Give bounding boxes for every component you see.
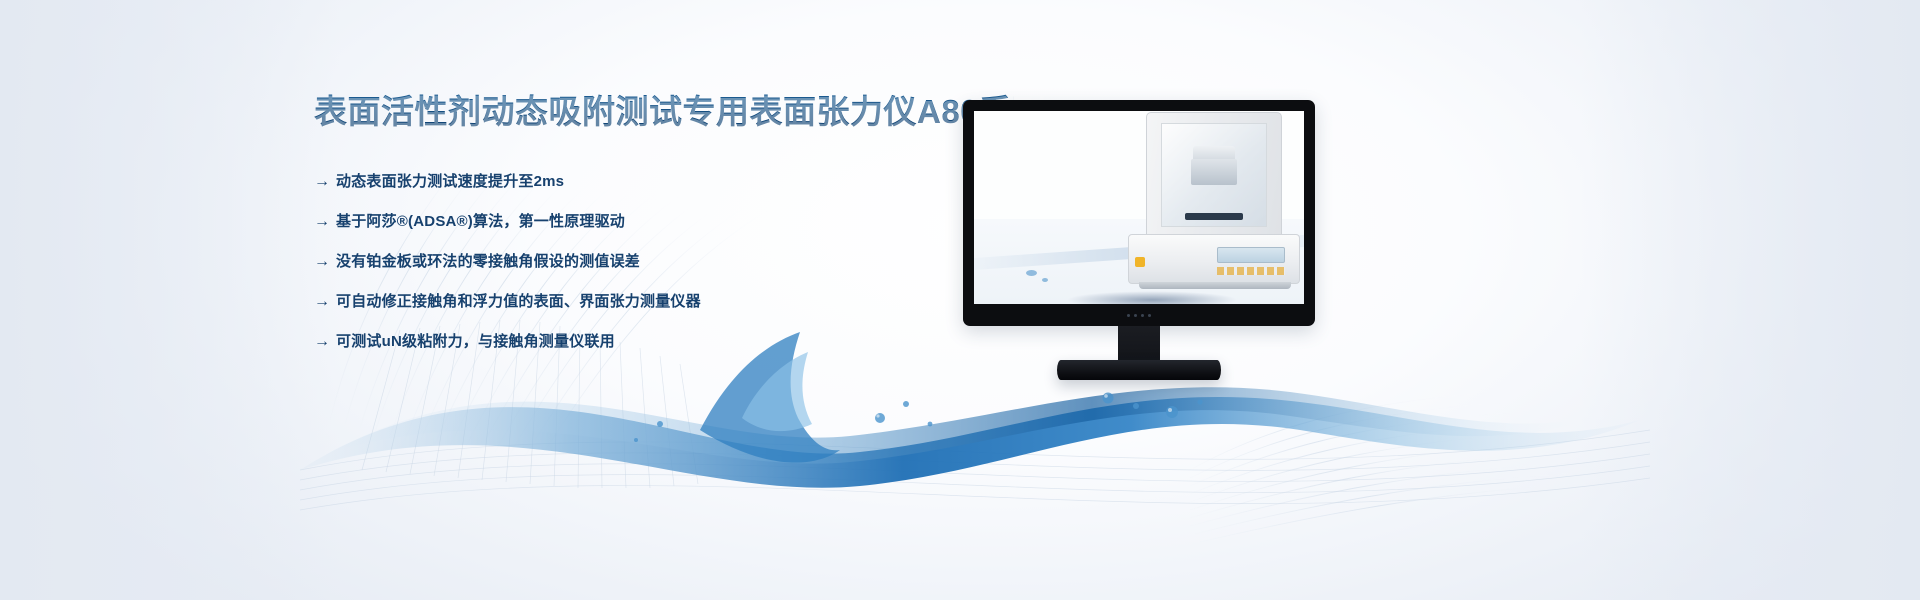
hero-banner: 表面活性剂动态吸附测试专用表面张力仪A80系列 → 动态表面张力测试速度提升至2…	[0, 0, 1920, 600]
device-weighing-pan	[1191, 159, 1237, 186]
monitor-bezel-bottom	[963, 304, 1315, 326]
product-photo: A80 Surface Tensiometer	[974, 111, 1304, 304]
device-base	[1139, 282, 1291, 289]
device-keypad	[1217, 267, 1285, 275]
monitor-stand-base	[1057, 360, 1221, 380]
tensiometer-device: A80 Surface Tensiometer	[1128, 112, 1300, 298]
left-vignette	[0, 0, 340, 600]
device-pan-base	[1185, 213, 1243, 220]
banner-content: 表面活性剂动态吸附测试专用表面张力仪A80系列 → 动态表面张力测试速度提升至2…	[314, 92, 1014, 350]
list-item: → 可自动修正接触角和浮力值的表面、界面张力测量仪器	[314, 294, 1014, 310]
water-droplet-icon	[1042, 278, 1048, 282]
list-item-label: 可测试uN级粘附力，与接触角测量仪联用	[336, 334, 615, 349]
list-item: → 动态表面张力测试速度提升至2ms	[314, 174, 1014, 190]
water-droplet-icon	[1026, 270, 1037, 276]
arrow-right-icon: →	[314, 334, 336, 350]
monitor-screen: A80 Surface Tensiometer	[974, 111, 1304, 304]
list-item: → 没有铂金板或环法的零接触角假设的测值误差	[314, 254, 1014, 270]
list-item-label: 动态表面张力测试速度提升至2ms	[336, 174, 564, 189]
feature-list: → 动态表面张力测试速度提升至2ms → 基于阿莎®(ADSA®)算法，第一性原…	[314, 174, 1014, 350]
list-item-label: 没有铂金板或环法的零接触角假设的测值误差	[336, 254, 640, 269]
power-led-icon	[1141, 314, 1144, 317]
list-item: → 基于阿莎®(ADSA®)算法，第一性原理驱动	[314, 214, 1014, 230]
page-title: 表面活性剂动态吸附测试专用表面张力仪A80系列	[314, 92, 1014, 132]
photo-shadow	[1066, 291, 1238, 304]
device-chamber	[1146, 112, 1282, 236]
power-led-icon	[1134, 314, 1137, 317]
list-item: → 可测试uN级粘附力，与接触角测量仪联用	[314, 334, 1014, 350]
device-body	[1128, 234, 1300, 284]
arrow-right-icon: →	[314, 174, 336, 190]
arrow-right-icon: →	[314, 214, 336, 230]
list-item-label: 可自动修正接触角和浮力值的表面、界面张力测量仪器	[336, 294, 701, 309]
power-led-icon	[1127, 314, 1130, 317]
arrow-right-icon: →	[314, 254, 336, 270]
device-display	[1217, 247, 1285, 263]
device-knob	[1135, 257, 1145, 267]
right-vignette	[1580, 0, 1920, 600]
device-glass-door	[1161, 123, 1267, 227]
arrow-right-icon: →	[314, 294, 336, 310]
list-item-label: 基于阿莎®(ADSA®)算法，第一性原理驱动	[336, 214, 625, 229]
product-monitor: A80 Surface Tensiometer	[963, 100, 1315, 326]
power-led-icon	[1148, 314, 1151, 317]
